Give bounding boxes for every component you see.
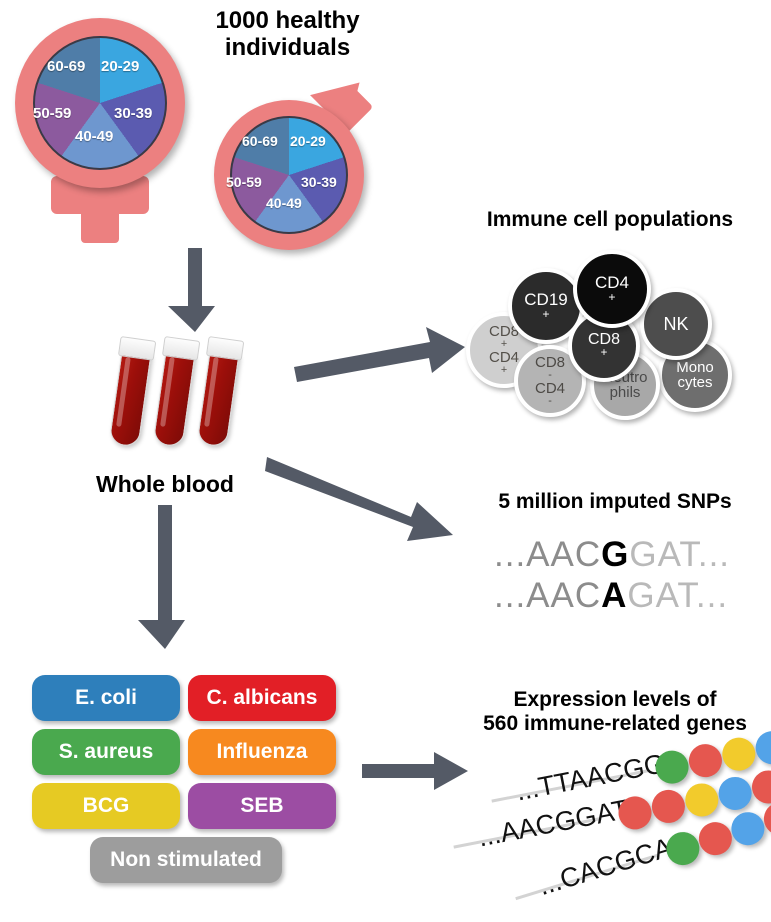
female-gender-symbol: 60-69 20-29 30-39 40-49 50-59	[8, 8, 198, 258]
immune-cell-nk: NK	[640, 288, 712, 360]
snp-allele-sequence-2: ...AACAGAT...	[494, 576, 728, 616]
male-gender-symbol: 60-69 20-29 30-39 40-49 50-59	[200, 78, 430, 258]
arrow-down-blood-to-stimuli	[130, 505, 200, 650]
blood-tube-body	[153, 350, 196, 447]
dna-bead	[716, 774, 755, 813]
dna-bead	[649, 787, 688, 826]
stimulus-c-albicans[interactable]: C. albicans	[188, 675, 336, 721]
blood-tube-body	[197, 350, 240, 447]
stimulus-seb[interactable]: SEB	[188, 783, 336, 829]
immune-cell-label: CD8+	[588, 332, 620, 360]
snp-prefix: ...AAC	[494, 576, 601, 615]
snp-suffix: GAT...	[629, 535, 730, 574]
dna-bead	[749, 768, 771, 807]
pie-label-50-59: 50-59	[33, 105, 71, 122]
immune-cell-label: CD4+	[595, 274, 629, 304]
snps-title: 5 million imputed SNPs	[470, 490, 760, 514]
blood-tube-2	[153, 336, 198, 447]
male-pie-label-40-49: 40-49	[266, 195, 302, 211]
cohort-title: 1000 healthy individuals	[175, 8, 400, 62]
stimulus-e-coli[interactable]: E. coli	[32, 675, 180, 721]
arrow-down-cohort-to-blood	[160, 248, 230, 333]
immune-cell-populations-title: Immune cell populations	[450, 208, 770, 232]
female-age-pie-chart	[33, 36, 167, 170]
immune-cell-cluster: CD19+ CD4+ NK CD8+ CD4+ CD8+ CD8- CD4- N…	[458, 240, 758, 420]
blood-tube-body	[109, 350, 152, 447]
cohort-title-line1: 1000 healthy	[175, 8, 400, 35]
whole-blood-tubes	[112, 338, 252, 463]
dna-bead	[682, 781, 721, 820]
stimulus-non-stimulated[interactable]: Non stimulated	[90, 837, 282, 883]
male-pie-label-60-69: 60-69	[242, 133, 278, 149]
stimuli-panel: E. coli C. albicans S. aureus Influenza …	[32, 675, 352, 895]
snp-allele-sequence-1: ...AACGGAT...	[494, 535, 730, 575]
snp-variant-allele: G	[601, 535, 629, 574]
immune-cell-label: Mono cytes	[676, 360, 714, 391]
immune-cell-label: CD8+ CD4+	[489, 324, 519, 377]
immune-cell-cd4-positive: CD4+	[573, 250, 651, 328]
expression-title-line2: 560 immune-related genes	[460, 712, 770, 736]
snp-prefix: ...AAC	[494, 535, 601, 574]
stimulus-bcg[interactable]: BCG	[32, 783, 180, 829]
gene-expression-strands: ...TTAACGG ...AACGGAT ...CACGCAA	[440, 740, 771, 915]
blood-tube-3	[197, 336, 242, 447]
cohort-title-line2: individuals	[175, 35, 400, 62]
dna-bead	[727, 808, 768, 849]
arrow-blood-to-snps	[265, 455, 455, 550]
dna-bead	[686, 741, 725, 780]
pie-label-40-49: 40-49	[75, 128, 113, 145]
immune-cell-label: NK	[663, 315, 688, 333]
male-pie-label-20-29: 20-29	[290, 133, 326, 149]
pie-label-20-29: 20-29	[101, 58, 139, 75]
whole-blood-label: Whole blood	[85, 472, 245, 498]
dna-bead	[695, 818, 736, 859]
dna-strand-sequence: ...AACGGAT	[476, 794, 632, 854]
snp-suffix: GAT...	[627, 576, 728, 615]
stimulus-s-aureus[interactable]: S. aureus	[32, 729, 180, 775]
dna-bead	[719, 735, 758, 774]
male-pie-label-30-39: 30-39	[301, 174, 337, 190]
male-pie-label-50-59: 50-59	[226, 174, 262, 190]
immune-cell-label: CD8- CD4-	[535, 355, 565, 408]
expression-title: Expression levels of 560 immune-related …	[460, 688, 770, 735]
pie-label-60-69: 60-69	[47, 58, 85, 75]
immune-cell-label: CD19+	[524, 291, 567, 321]
snp-variant-allele: A	[601, 576, 627, 615]
pie-label-30-39: 30-39	[114, 105, 152, 122]
expression-title-line1: Expression levels of	[460, 688, 770, 712]
arrow-blood-to-immune-cells	[292, 325, 467, 383]
blood-tube-1	[109, 336, 154, 447]
stimulus-influenza[interactable]: Influenza	[188, 729, 336, 775]
